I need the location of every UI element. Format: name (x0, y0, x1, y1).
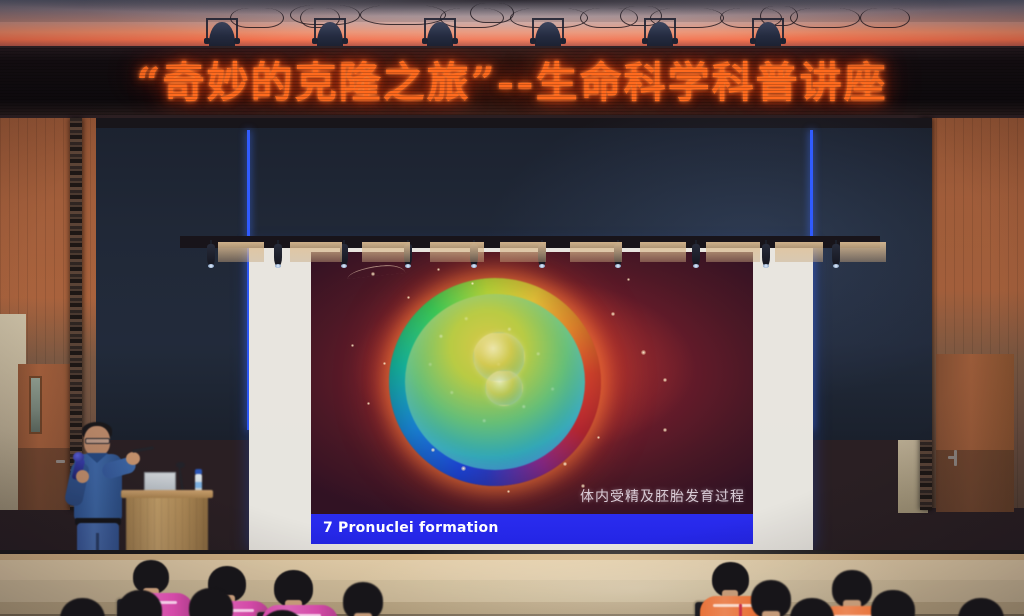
projection-screen-frame: 体内受精及胚胎发育过程 7 Pronuclei formation (249, 246, 813, 551)
led-banner: “奇妙的克隆之旅”--生命科学科普讲座 (0, 46, 1024, 118)
auditorium-photo: “奇妙的克隆之旅”--生命科学科普讲座 (0, 0, 1024, 616)
spotlight-knob (234, 38, 240, 44)
ceiling-minispot (690, 240, 702, 270)
ceiling-minispot (272, 240, 284, 270)
slide-speck (611, 312, 615, 316)
water-bottle-label (195, 482, 202, 488)
spotlight-knob (672, 38, 678, 44)
audience-member (944, 598, 1024, 616)
audience-member (776, 598, 862, 616)
slide-speck (437, 268, 440, 271)
ceiling-light-patch (570, 242, 622, 262)
slide-speck (597, 436, 600, 439)
minispot-lens-icon (405, 264, 411, 268)
slide-watermark-text: 体内受精及胚胎发育过程 (580, 486, 745, 506)
minispot-lens-icon (615, 264, 621, 268)
slide-speck (367, 402, 370, 405)
ceiling-light-patch (500, 242, 546, 262)
right-door[interactable] (936, 354, 1014, 512)
ceiling-light-patch (840, 242, 886, 262)
audience-member (246, 610, 334, 616)
slide-speck (351, 344, 354, 347)
audience-head (958, 598, 1004, 616)
slide-speck (407, 296, 410, 299)
ceiling-minispot (760, 240, 772, 270)
glasses-icon (85, 438, 110, 444)
spotlight-knob (422, 38, 428, 44)
ceiling-light-patch (706, 242, 760, 262)
slide-speck (663, 428, 667, 432)
slide-speck (383, 362, 386, 365)
projection-screen[interactable]: 体内受精及胚胎发育过程 7 Pronuclei formation (311, 252, 753, 544)
laptop-screen (144, 472, 176, 491)
minispot-lens-icon (833, 264, 839, 268)
slide-speck (507, 490, 510, 493)
gooseneck-microphone-head-icon (176, 462, 185, 468)
slide-speck (461, 466, 466, 471)
minispot-lens-icon (763, 264, 769, 268)
minispot-lens-icon (275, 264, 281, 268)
slide-speck (563, 462, 567, 466)
cable (790, 8, 860, 28)
minispot-body (274, 244, 282, 266)
room: 体内受精及胚胎发育过程 7 Pronuclei formation (0, 118, 1024, 616)
audience-head (260, 610, 305, 616)
presenter-right-hand (126, 452, 140, 465)
slide-speck (641, 350, 646, 355)
slide-speck (371, 272, 375, 276)
slide-speck (431, 448, 435, 452)
spotlight-knob (560, 38, 566, 44)
audience-member (46, 598, 134, 616)
gooseneck-microphone (178, 466, 184, 492)
spotlight-knob (530, 38, 536, 44)
cable (470, 3, 514, 23)
spotlight-knob (452, 38, 458, 44)
ceiling-minispot (205, 240, 217, 270)
laser-pointer-icon (132, 446, 154, 453)
ceiling-light-patch (362, 242, 410, 262)
led-scanline-overlay (0, 48, 1024, 115)
slide-speck (627, 278, 630, 281)
minispot-lens-icon (471, 264, 477, 268)
pronucleus-2 (485, 370, 523, 406)
spotlight-knob (750, 38, 756, 44)
cable (860, 8, 910, 28)
lectern-top (121, 490, 213, 498)
ceiling-light-patch (775, 242, 823, 262)
audience-member (858, 590, 942, 616)
ceiling-light-patch (430, 242, 484, 262)
audience-head (189, 588, 232, 616)
minispot-body (207, 244, 215, 266)
microphone-head-icon (73, 452, 84, 462)
minispot-lens-icon (693, 264, 699, 268)
audience-head (60, 598, 105, 616)
minispot-body (692, 244, 700, 266)
minispot-lens-icon (208, 264, 214, 268)
audience-head (790, 598, 834, 616)
slide-speck (663, 378, 667, 382)
slide-image-area: 体内受精及胚胎发育过程 (311, 252, 753, 514)
slide-speck (471, 282, 474, 285)
audience-member (330, 582, 409, 616)
audience-head (343, 582, 383, 616)
ceiling-light-patch (218, 242, 264, 262)
minispot-lens-icon (539, 264, 545, 268)
spotlight-knob (642, 38, 648, 44)
audience-seating (0, 536, 1024, 616)
oocyte-outer-ring (389, 278, 601, 486)
audience-head (871, 590, 914, 616)
spotlight-knob (312, 38, 318, 44)
door-lower-band (936, 450, 1014, 512)
ceiling-light-patch (290, 242, 342, 262)
spotlight-knob (780, 38, 786, 44)
minispot-body (832, 244, 840, 266)
minispot-lens-icon (341, 264, 347, 268)
door-window (29, 376, 42, 434)
minispot-body (762, 244, 770, 266)
spotlight-knob (204, 38, 210, 44)
spotlight-knob (342, 38, 348, 44)
ceiling-light-patch (640, 242, 686, 262)
slide-footer-caption: 7 Pronuclei formation (323, 520, 499, 536)
